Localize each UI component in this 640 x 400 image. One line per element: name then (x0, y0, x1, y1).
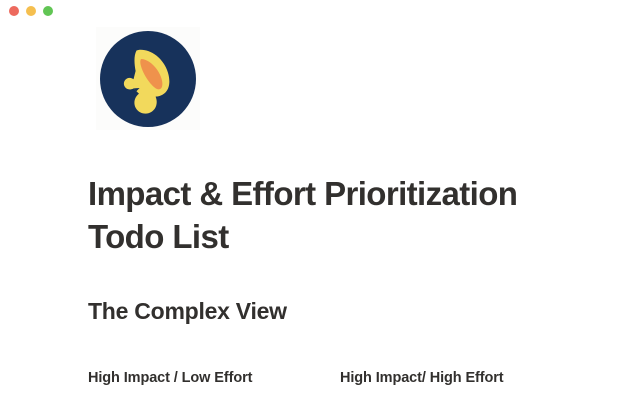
minimize-window-icon[interactable] (26, 6, 36, 16)
window-controls (9, 6, 53, 16)
page-title: Impact & Effort Prioritization Todo List (88, 172, 568, 258)
page-root: Impact & Effort Prioritization Todo List… (0, 0, 640, 400)
quadrant-header-row: High Impact / Low Effort High Impact/ Hi… (88, 368, 588, 392)
page-subtitle: The Complex View (88, 296, 287, 326)
quadrant-header-high-impact-high-effort: High Impact/ High Effort (340, 368, 504, 388)
window-titlebar (0, 0, 640, 24)
cover-image[interactable] (96, 27, 200, 130)
quadrant-header-high-impact-low-effort: High Impact / Low Effort (88, 368, 252, 388)
close-window-icon[interactable] (9, 6, 19, 16)
bird-leaf-logo-icon (100, 31, 196, 127)
maximize-window-icon[interactable] (43, 6, 53, 16)
